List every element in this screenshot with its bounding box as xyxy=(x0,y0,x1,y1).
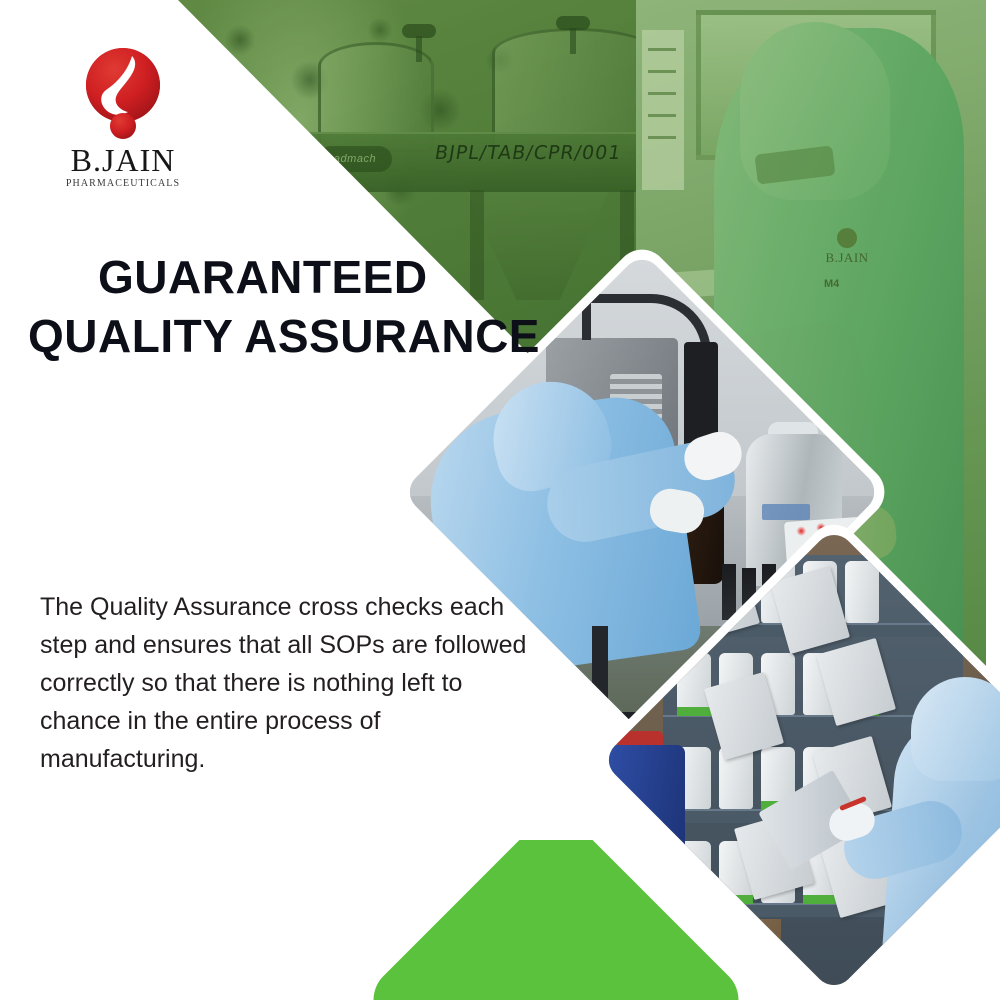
headline-line-2: QUALITY ASSURANCE xyxy=(28,307,548,366)
brand-logo: B.JAIN PHARMACEUTICALS xyxy=(48,42,198,187)
bjain-flame-circle-logo-icon xyxy=(48,42,198,142)
logo-wordmark: B.JAIN xyxy=(48,142,198,179)
body-paragraph: The Quality Assurance cross checks each … xyxy=(40,588,530,778)
headline: GUARANTEED QUALITY ASSURANCE xyxy=(28,248,548,366)
poster-canvas: admach BJPL/TAB/CPR/001 B.JAIN M4 xyxy=(0,0,1000,1000)
warehouse-scene xyxy=(669,595,999,925)
logo-tagline: PHARMACEUTICALS xyxy=(48,178,198,189)
headline-line-1: GUARANTEED xyxy=(28,248,548,307)
